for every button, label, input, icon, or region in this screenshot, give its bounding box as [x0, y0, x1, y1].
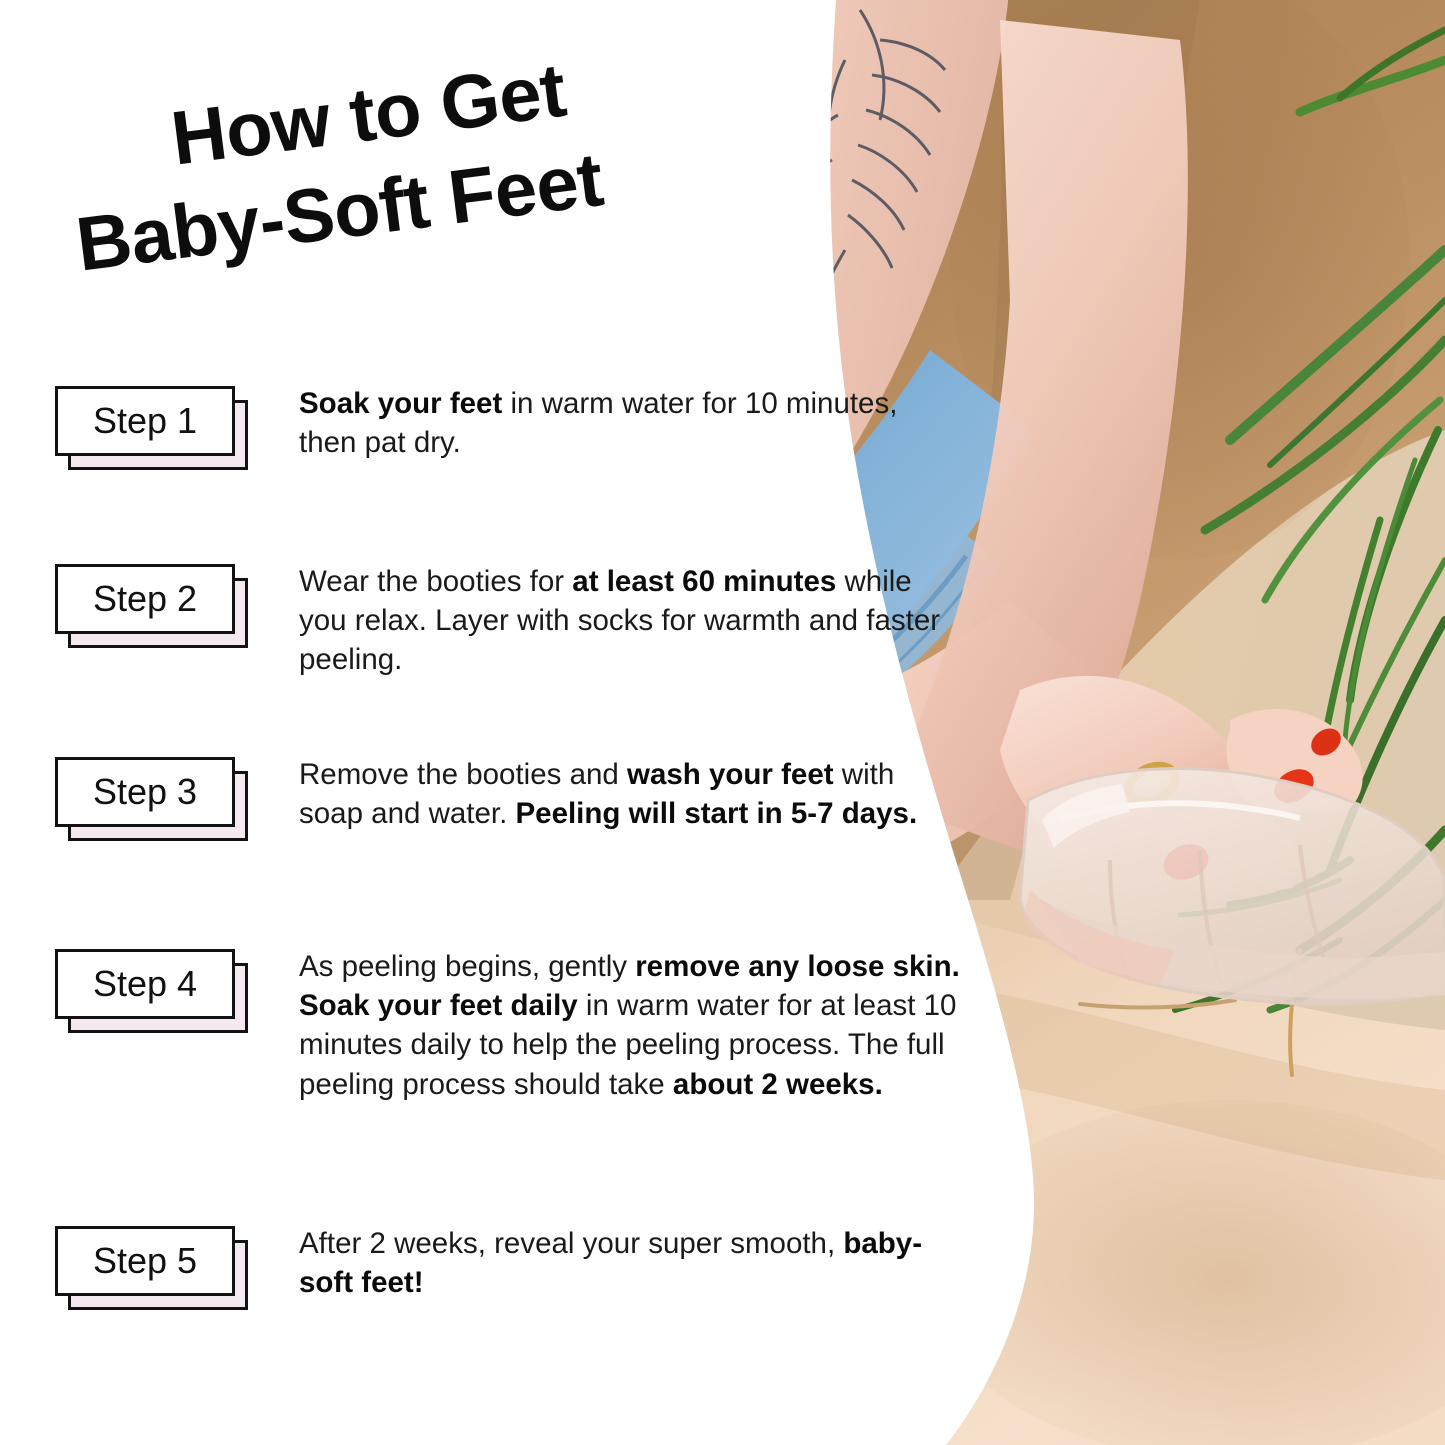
- step-badge-front: Step 2: [55, 564, 235, 634]
- step-badge-label: Step 1: [93, 403, 197, 439]
- step-badge-label: Step 3: [93, 774, 197, 810]
- step-badge-front: Step 4: [55, 949, 235, 1019]
- step-badge: Step 5: [55, 1226, 255, 1314]
- step-badge: Step 3: [55, 757, 255, 845]
- content-column: How to Get Baby-Soft Feet Step 1 Soak yo…: [0, 0, 980, 1445]
- step-badge-label: Step 5: [93, 1243, 197, 1279]
- step-badge-label: Step 4: [93, 966, 197, 1002]
- infographic-page: How to Get Baby-Soft Feet Step 1 Soak yo…: [0, 0, 1445, 1445]
- step-description: Wear the booties for at least 60 minutes…: [299, 562, 961, 680]
- step-badge-label: Step 2: [93, 581, 197, 617]
- step-description: As peeling begins, gently remove any loo…: [299, 947, 961, 1104]
- page-title: How to Get Baby-Soft Feet: [72, 78, 772, 308]
- step-badge-front: Step 3: [55, 757, 235, 827]
- step-description: Soak your feet in warm water for 10 minu…: [299, 384, 961, 462]
- step-description: Remove the booties and wash your feet wi…: [299, 755, 961, 833]
- step-description: After 2 weeks, reveal your super smooth,…: [299, 1224, 961, 1302]
- step-badge-front: Step 5: [55, 1226, 235, 1296]
- step-badge-front: Step 1: [55, 386, 235, 456]
- step-badge: Step 2: [55, 564, 255, 652]
- step-badge: Step 1: [55, 386, 255, 474]
- step-badge: Step 4: [55, 949, 255, 1037]
